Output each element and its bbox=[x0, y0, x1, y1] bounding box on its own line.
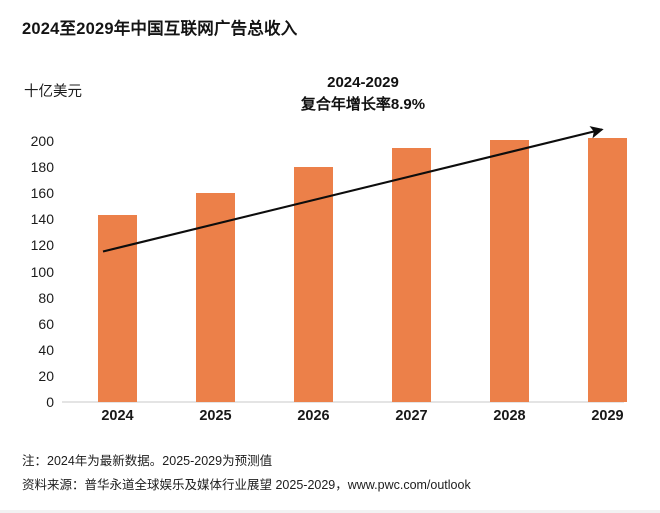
x-axis-tick-label-2026: 2026 bbox=[274, 408, 354, 424]
y-axis-unit-label: 十亿美元 bbox=[24, 80, 82, 101]
x-axis-tick-label-2029: 2029 bbox=[568, 408, 648, 424]
x-axis-tick-label-2027: 2027 bbox=[372, 408, 452, 424]
footnote-note: 注：2024年为最新数据。2025-2029为预测值 bbox=[22, 449, 471, 473]
y-axis: 020406080100120140160180200 bbox=[8, 128, 54, 402]
y-axis-tick-label: 200 bbox=[10, 134, 54, 148]
y-axis-tick-label: 60 bbox=[10, 317, 54, 331]
cagr-annotation: 2024-2029 复合年增长率8.9% bbox=[258, 72, 468, 116]
y-axis-tick-label: 180 bbox=[10, 160, 54, 174]
y-axis-tick-label: 40 bbox=[10, 343, 54, 357]
bar-column[interactable] bbox=[490, 128, 529, 402]
chart-page: 2024至2029年中国互联网广告总收入 十亿美元 2024-2029 复合年增… bbox=[0, 0, 660, 513]
x-axis-tick-label-2024: 2024 bbox=[78, 408, 158, 424]
footnote-source: 资料来源：普华永道全球娱乐及媒体行业展望 2025-2029，www.pwc.c… bbox=[22, 473, 471, 497]
bar-2027[interactable] bbox=[392, 148, 431, 402]
x-axis-tick-label-2025: 2025 bbox=[176, 408, 256, 424]
y-axis-tick-label: 20 bbox=[10, 369, 54, 383]
bar-column[interactable] bbox=[294, 128, 333, 402]
bar-2024[interactable] bbox=[98, 215, 137, 402]
cagr-annotation-rate: 复合年增长率8.9% bbox=[258, 94, 468, 116]
page-title: 2024至2029年中国互联网广告总收入 bbox=[22, 15, 297, 39]
plot-area bbox=[62, 128, 622, 402]
bar-column[interactable] bbox=[588, 128, 627, 402]
footnotes: 注：2024年为最新数据。2025-2029为预测值 资料来源：普华永道全球娱乐… bbox=[22, 449, 471, 497]
bar-2025[interactable] bbox=[196, 193, 235, 402]
y-axis-tick-label: 80 bbox=[10, 291, 54, 305]
x-axis-tick-label-2028: 2028 bbox=[470, 408, 550, 424]
y-axis-tick-label: 160 bbox=[10, 186, 54, 200]
bar-2026[interactable] bbox=[294, 167, 333, 402]
bar-column[interactable] bbox=[196, 128, 235, 402]
y-axis-tick-label: 140 bbox=[10, 212, 54, 226]
bar-2028[interactable] bbox=[490, 140, 529, 402]
y-axis-tick-label: 120 bbox=[10, 238, 54, 252]
bar-column[interactable] bbox=[98, 128, 137, 402]
y-axis-tick-label: 100 bbox=[10, 265, 54, 279]
bar-column[interactable] bbox=[392, 128, 431, 402]
y-axis-tick-label: 0 bbox=[10, 395, 54, 409]
cagr-annotation-period: 2024-2029 bbox=[258, 72, 468, 94]
bar-2029[interactable] bbox=[588, 138, 627, 402]
